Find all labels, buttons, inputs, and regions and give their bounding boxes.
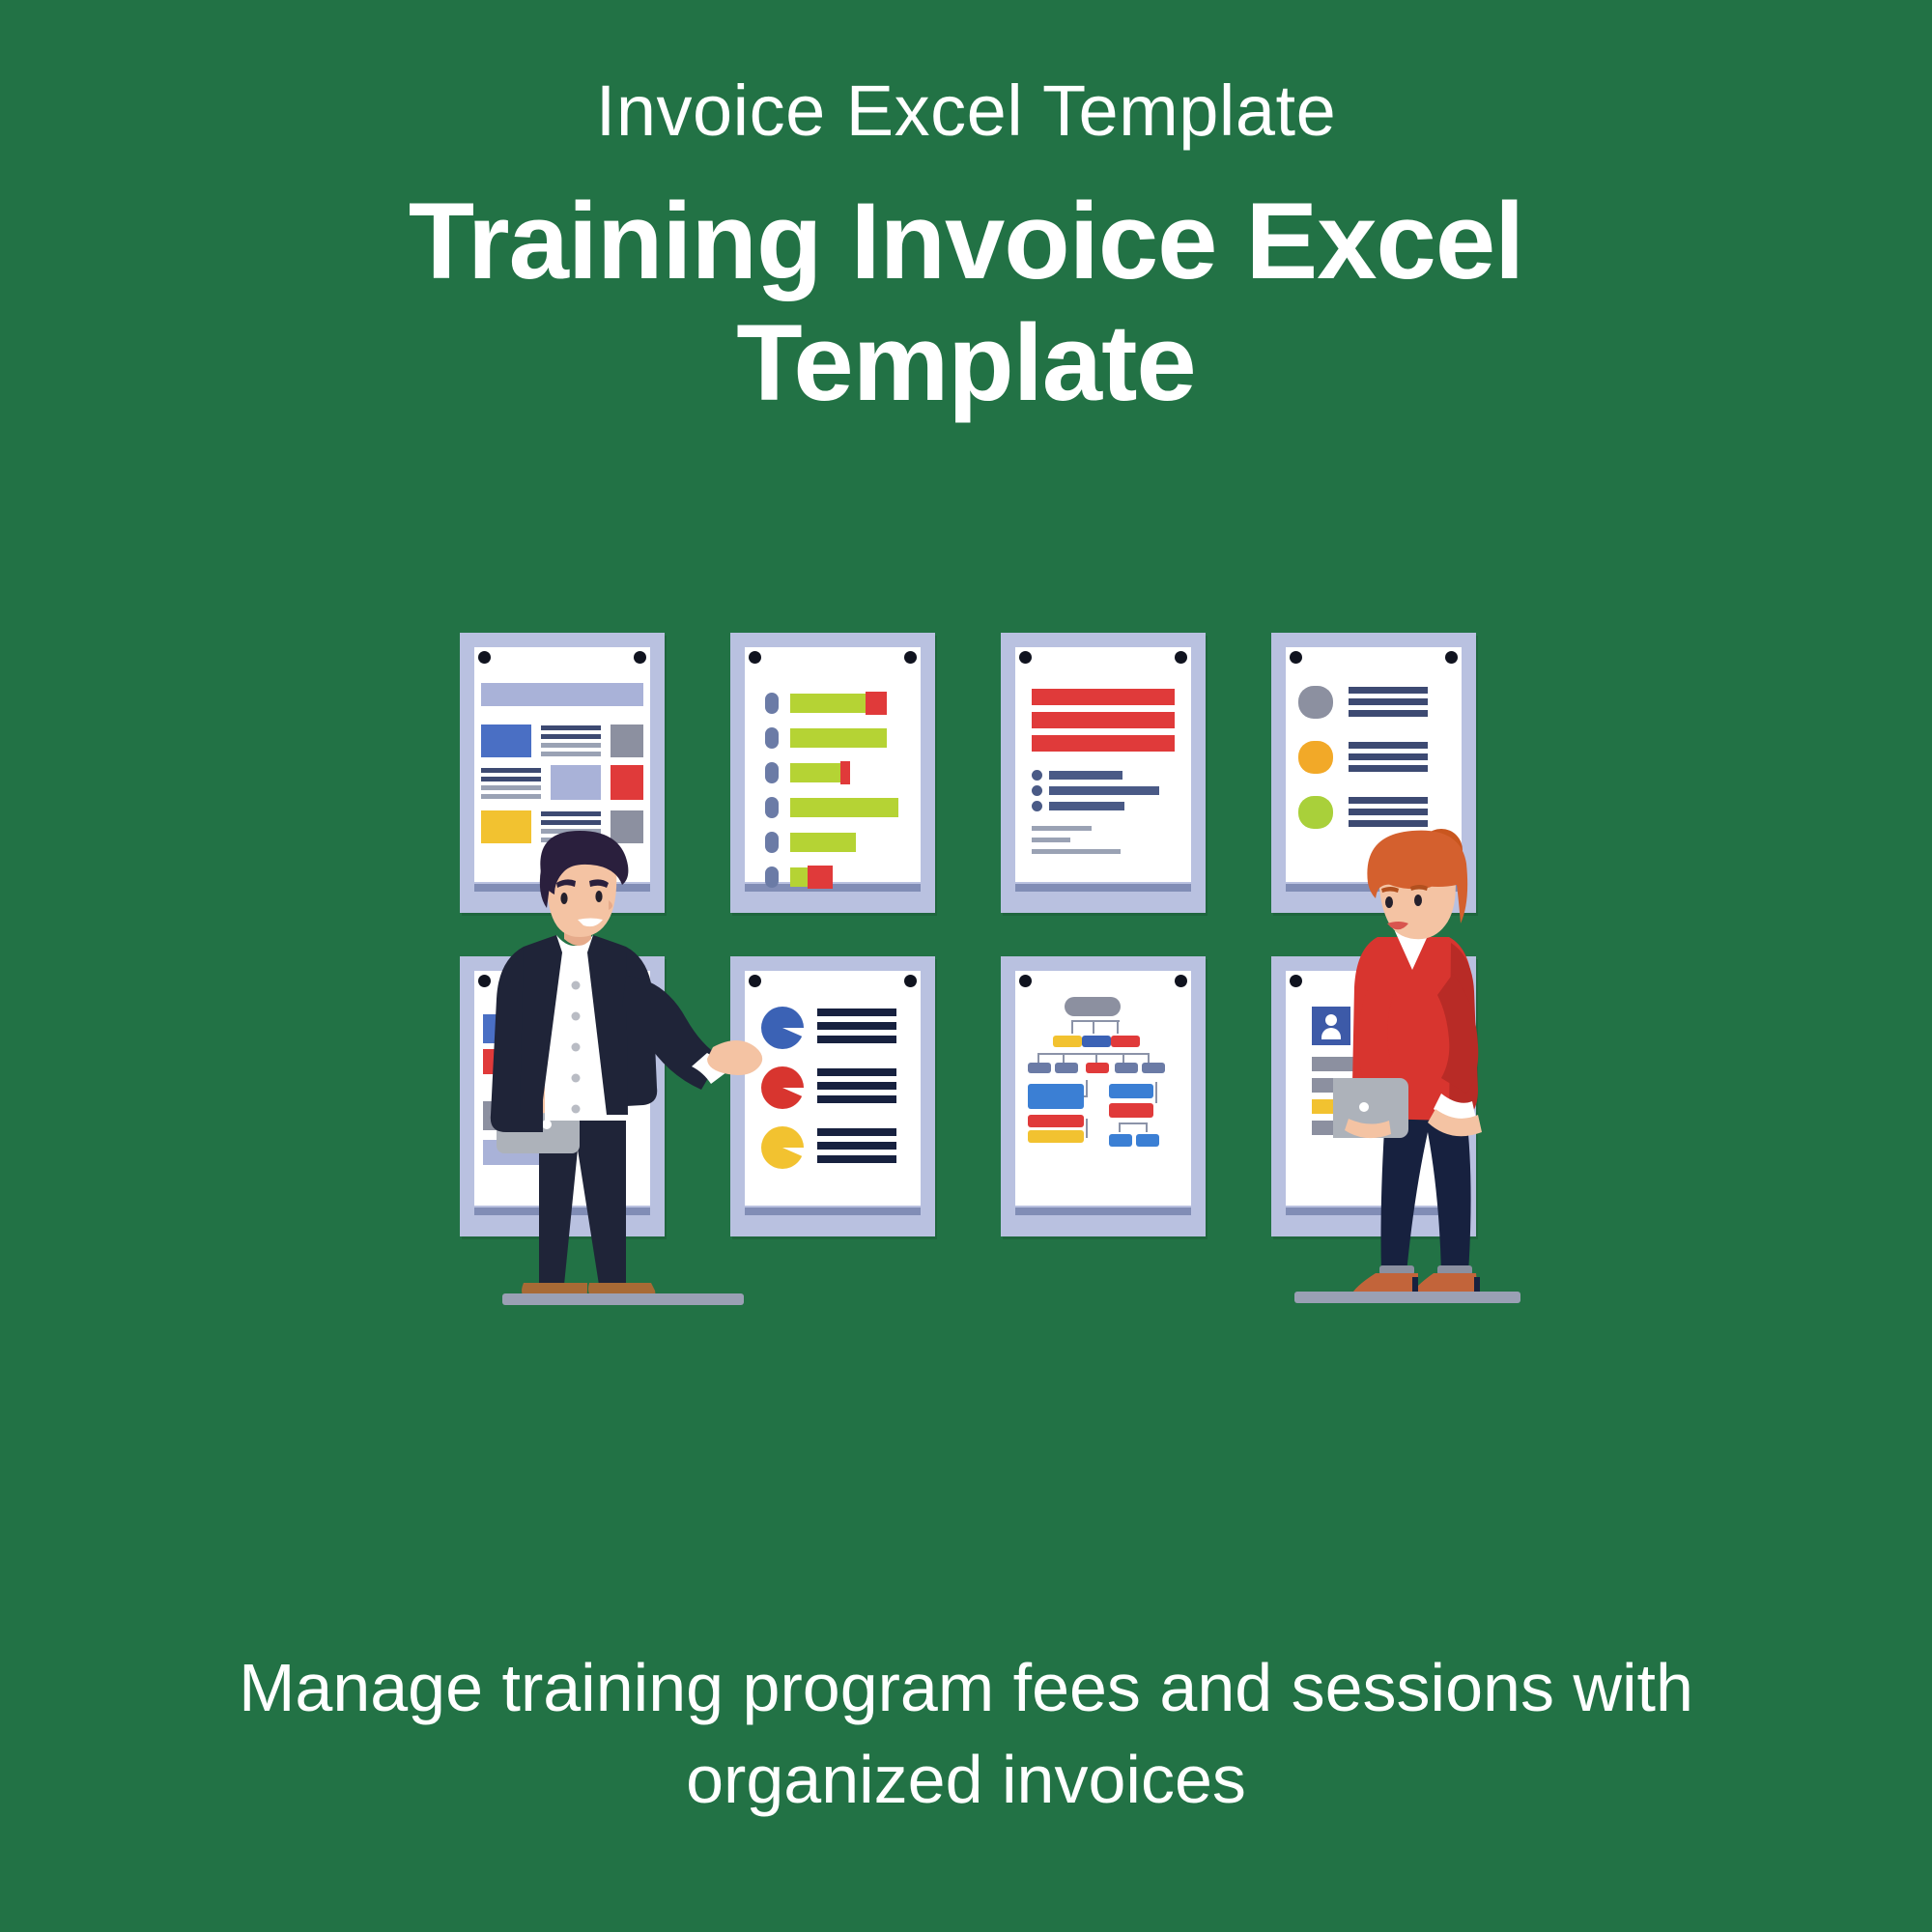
pin-icon xyxy=(1175,975,1187,987)
kicker-text: Invoice Excel Template xyxy=(596,70,1336,152)
panel-shadow xyxy=(1015,884,1191,893)
pin-icon xyxy=(634,651,646,664)
panel-sheet xyxy=(1015,647,1191,883)
pin-icon xyxy=(904,975,917,987)
female-presenter-svg xyxy=(1333,829,1623,1350)
male-presenter-figure xyxy=(464,831,792,1352)
wall-panel-3 xyxy=(1001,633,1206,913)
pin-icon xyxy=(904,651,917,664)
poster-canvas: Invoice Excel Template Training Invoice … xyxy=(0,0,1932,1932)
pin-icon xyxy=(1175,651,1187,664)
floor-line-male xyxy=(502,1293,744,1305)
page-title: Training Invoice Excel Template xyxy=(261,181,1671,423)
panel-shadow xyxy=(1015,1207,1191,1216)
footer-caption: Manage training program fees and session… xyxy=(106,1642,1826,1825)
wall-panel-7 xyxy=(1001,956,1206,1236)
pin-icon xyxy=(1445,651,1458,664)
male-presenter-svg xyxy=(464,831,792,1352)
floor-line-female xyxy=(1294,1292,1520,1303)
female-presenter-figure xyxy=(1333,829,1623,1350)
